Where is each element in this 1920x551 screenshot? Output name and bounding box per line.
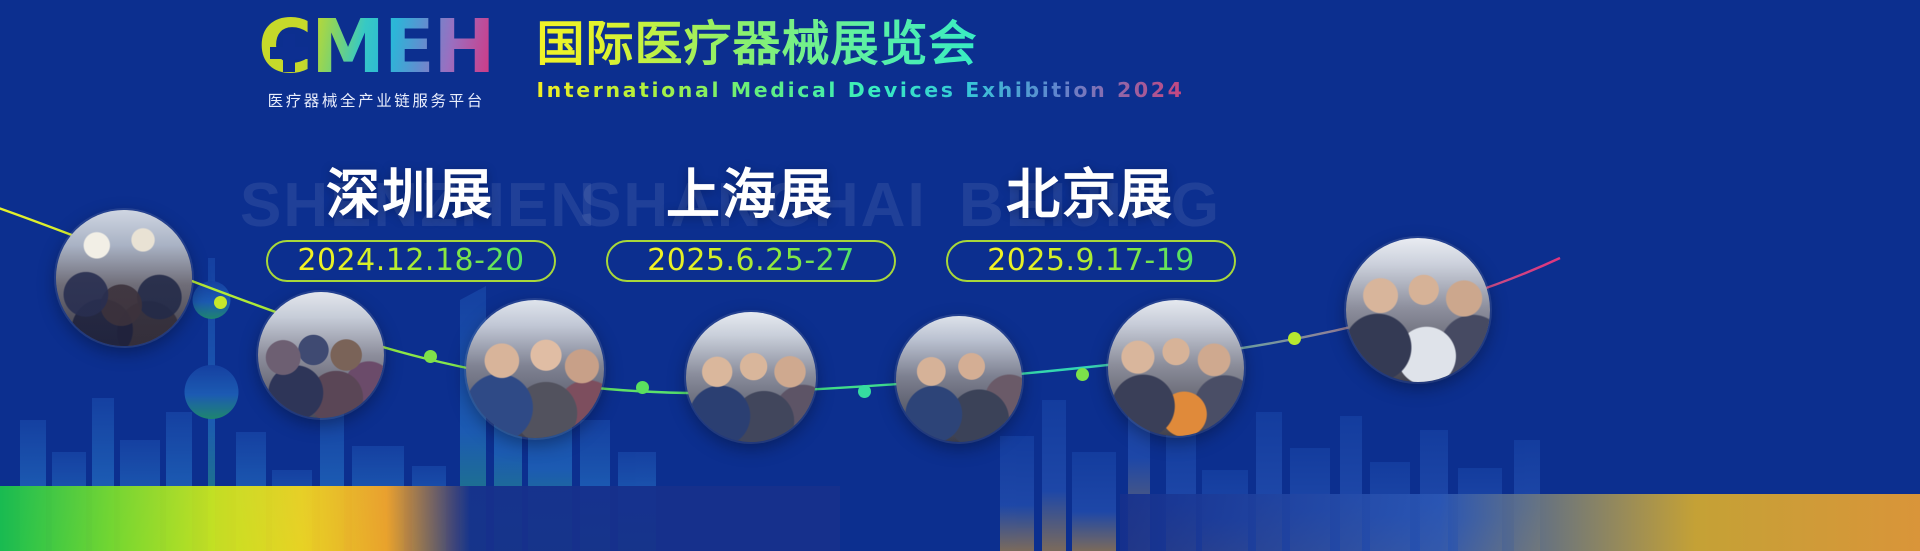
- city-shenzhen: SHENZHEN 深圳展 2024.12.18-20: [240, 146, 580, 286]
- connector-dot-1: [214, 296, 227, 309]
- connector-dot-4: [858, 385, 871, 398]
- logo-block: CMEH 医疗器械全产业链服务平台: [258, 8, 494, 111]
- photo-exhibition-3: [466, 300, 604, 438]
- connector-dot-5: [1076, 368, 1089, 381]
- photo-exhibition-6: [1108, 300, 1244, 436]
- photo-exhibition-1: [56, 210, 192, 346]
- bottom-strip-right: [1120, 494, 1920, 551]
- city-date-text: 2025.9.17-19: [987, 243, 1195, 279]
- city-shanghai: SHANGHAI 上海展 2025.6.25-27: [580, 146, 920, 286]
- photo-exhibition-7: [1346, 238, 1490, 382]
- exhibition-banner: CMEH 医疗器械全产业链服务平台 国际医疗器械展览会 Internationa…: [0, 0, 1920, 551]
- title-block: 国际医疗器械展览会 International Medical Devices …: [536, 8, 1184, 102]
- medical-cross-icon: [270, 34, 308, 72]
- logo-tagline: 医疗器械全产业链服务平台: [268, 89, 485, 111]
- photo-exhibition-5: [896, 316, 1022, 442]
- city-date-badge[interactable]: 2025.9.17-19: [946, 240, 1236, 282]
- city-date-badge[interactable]: 2024.12.18-20: [266, 240, 556, 282]
- city-date-text: 2025.6.25-27: [647, 243, 855, 279]
- connector-dot-3: [636, 381, 649, 394]
- photo-exhibition-4: [686, 312, 816, 442]
- city-name-label: 上海展: [580, 162, 920, 228]
- photo-exhibition-2: [258, 292, 384, 418]
- city-date-badge[interactable]: 2025.6.25-27: [606, 240, 896, 282]
- city-name-label: 深圳展: [240, 162, 580, 228]
- english-title: International Medical Devices Exhibition…: [536, 78, 1184, 102]
- main-title: 国际医疗器械展览会: [536, 16, 1184, 72]
- bottom-strip-left: [0, 486, 840, 551]
- city-beijing: BEIJING 北京展 2025.9.17-19: [920, 146, 1260, 286]
- header: CMEH 医疗器械全产业链服务平台 国际医疗器械展览会 Internationa…: [258, 8, 1185, 111]
- city-list: SHENZHEN 深圳展 2024.12.18-20 SHANGHAI 上海展 …: [240, 146, 1320, 286]
- city-name-label: 北京展: [920, 162, 1260, 228]
- city-date-text: 2024.12.18-20: [297, 243, 524, 279]
- connector-dot-6: [1288, 332, 1301, 345]
- connector-dot-2: [424, 350, 437, 363]
